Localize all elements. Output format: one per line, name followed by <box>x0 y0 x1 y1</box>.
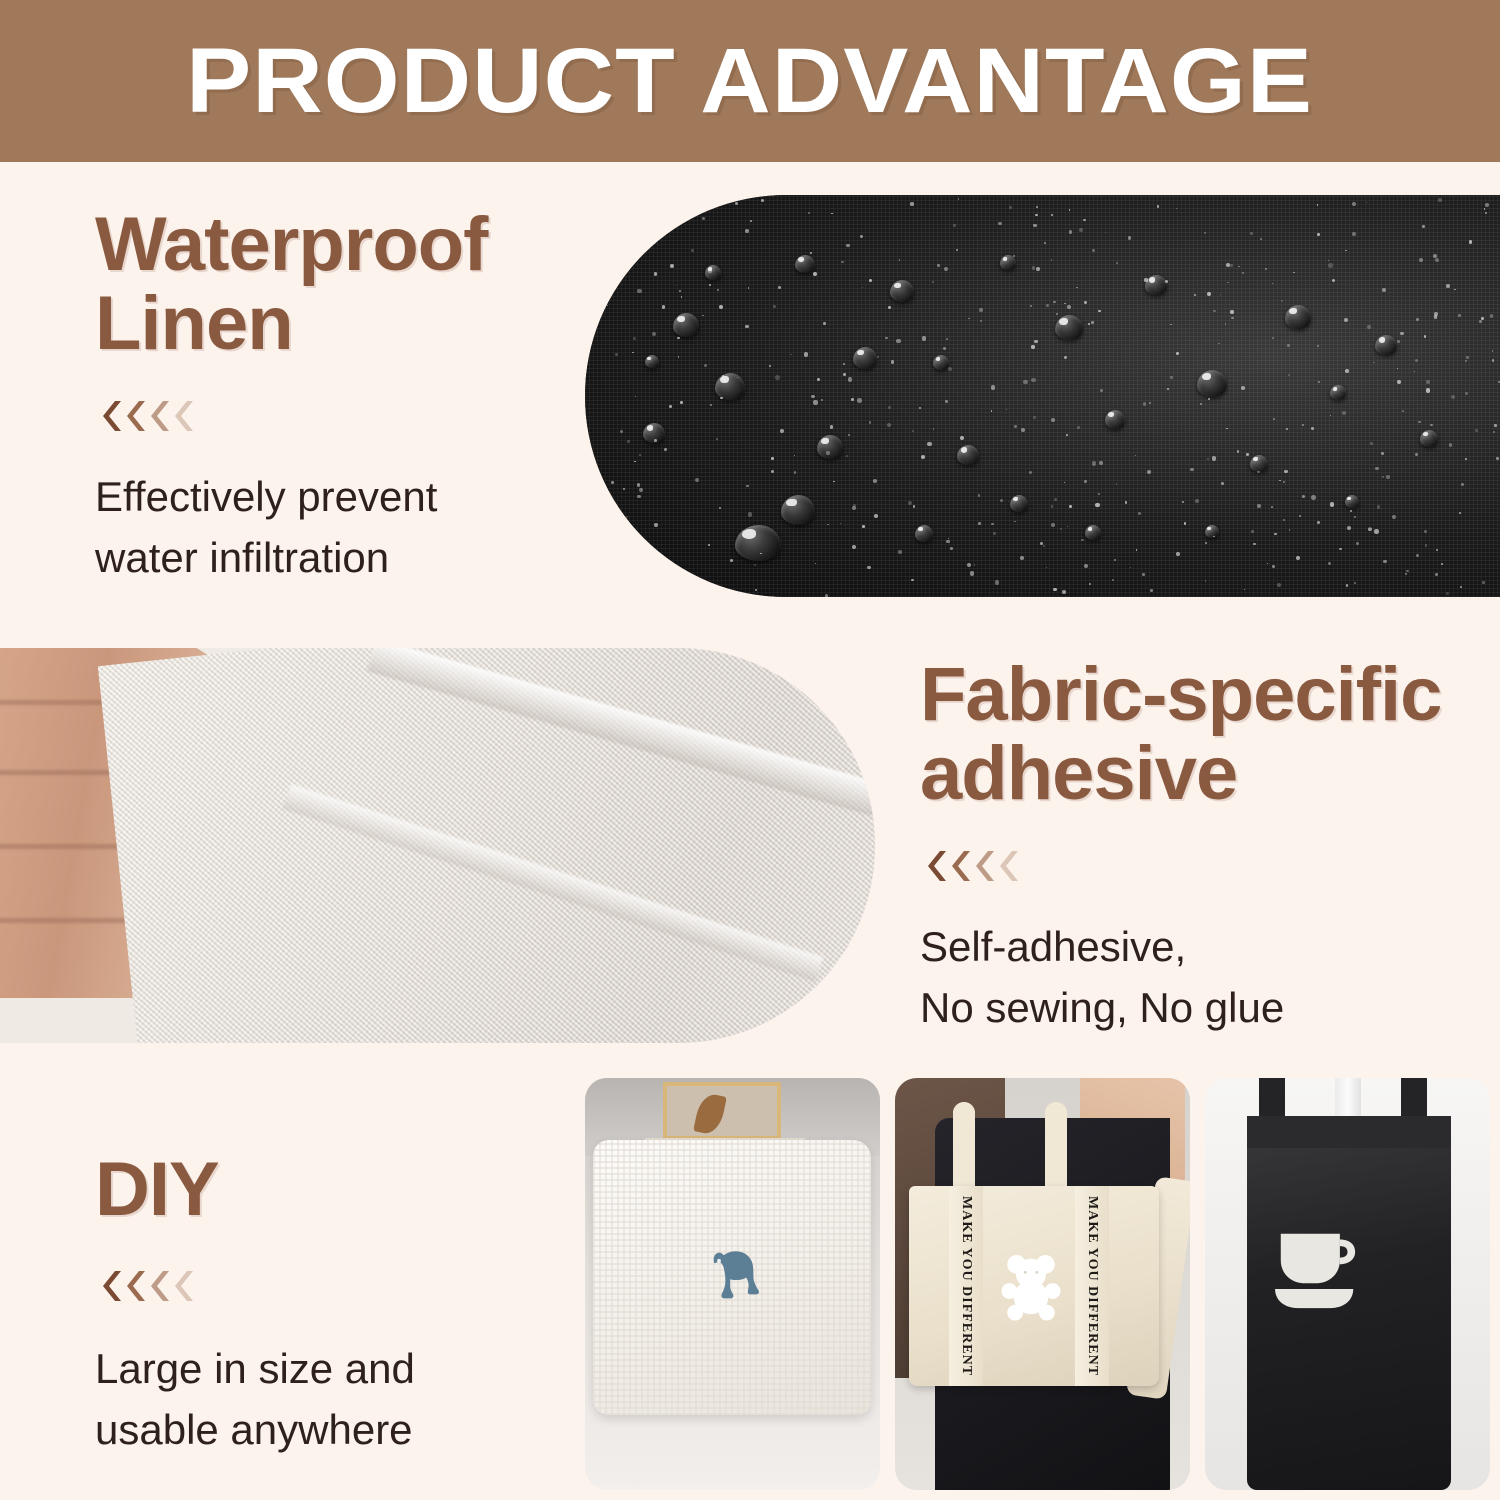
tote-strap-text: MAKE YOU DIFFERENT <box>958 1196 974 1376</box>
feature-description-adhesive: Self-adhesive, No sewing, No glue <box>920 917 1480 1039</box>
chevron-left-icon <box>151 1269 173 1303</box>
product-advantage-banner: PRODUCT ADVANTAGE <box>0 0 1500 162</box>
chevron-left-icon <box>103 1269 125 1303</box>
chevron-left-icon <box>151 399 173 433</box>
double-chevron-left-icon <box>103 399 565 433</box>
feature-description-diy: Large in size and usable anywhere <box>95 1339 565 1461</box>
apron-photo <box>1205 1078 1490 1490</box>
feature-block-waterproof: Waterproof Linen Effectively prevent wat… <box>95 205 565 589</box>
chevron-left-icon <box>127 1269 149 1303</box>
bear-silhouette-icon <box>995 1246 1067 1326</box>
tote-strap-right: MAKE YOU DIFFERENT <box>1075 1186 1109 1386</box>
double-chevron-left-icon <box>928 849 1480 883</box>
apron-bib <box>1247 1116 1451 1148</box>
chevron-left-icon <box>175 399 197 433</box>
feature-title-diy: DIY <box>95 1150 565 1229</box>
double-chevron-left-icon <box>103 1269 565 1303</box>
chevron-left-icon <box>952 849 974 883</box>
chevron-left-icon <box>127 399 149 433</box>
tote-strap-left: MAKE YOU DIFFERENT <box>949 1186 983 1386</box>
page-title: PRODUCT ADVANTAGE <box>187 29 1314 134</box>
feature-title-adhesive: Fabric-specific adhesive <box>920 655 1480 813</box>
feature-block-adhesive: Fabric-specific adhesive Self-adhesive, … <box>920 655 1480 1039</box>
fabric-fold <box>283 784 824 982</box>
linen-swatch-photo <box>0 648 875 1043</box>
feature-title-waterproof: Waterproof Linen <box>95 205 565 363</box>
fabric-fold <box>367 648 875 848</box>
tote-bag-photo: MAKE YOU DIFFERENT MAKE YOU DIFFERENT <box>895 1078 1190 1490</box>
chevron-left-icon <box>1000 849 1022 883</box>
teacup-silhouette-icon <box>1269 1228 1365 1310</box>
pillow-photo <box>585 1078 880 1490</box>
tote-strap-text: MAKE YOU DIFFERENT <box>1084 1196 1100 1376</box>
dog-silhouette-icon <box>695 1236 775 1316</box>
chevron-left-icon <box>976 849 998 883</box>
chevron-left-icon <box>103 399 125 433</box>
chevron-left-icon <box>175 1269 197 1303</box>
feature-description-waterproof: Effectively prevent water infiltration <box>95 467 565 589</box>
waterproof-fabric-photo <box>585 195 1500 597</box>
feature-block-diy: DIY Large in size and usable anywhere <box>95 1150 565 1461</box>
chevron-left-icon <box>928 849 950 883</box>
linen-fabric <box>98 648 875 1043</box>
